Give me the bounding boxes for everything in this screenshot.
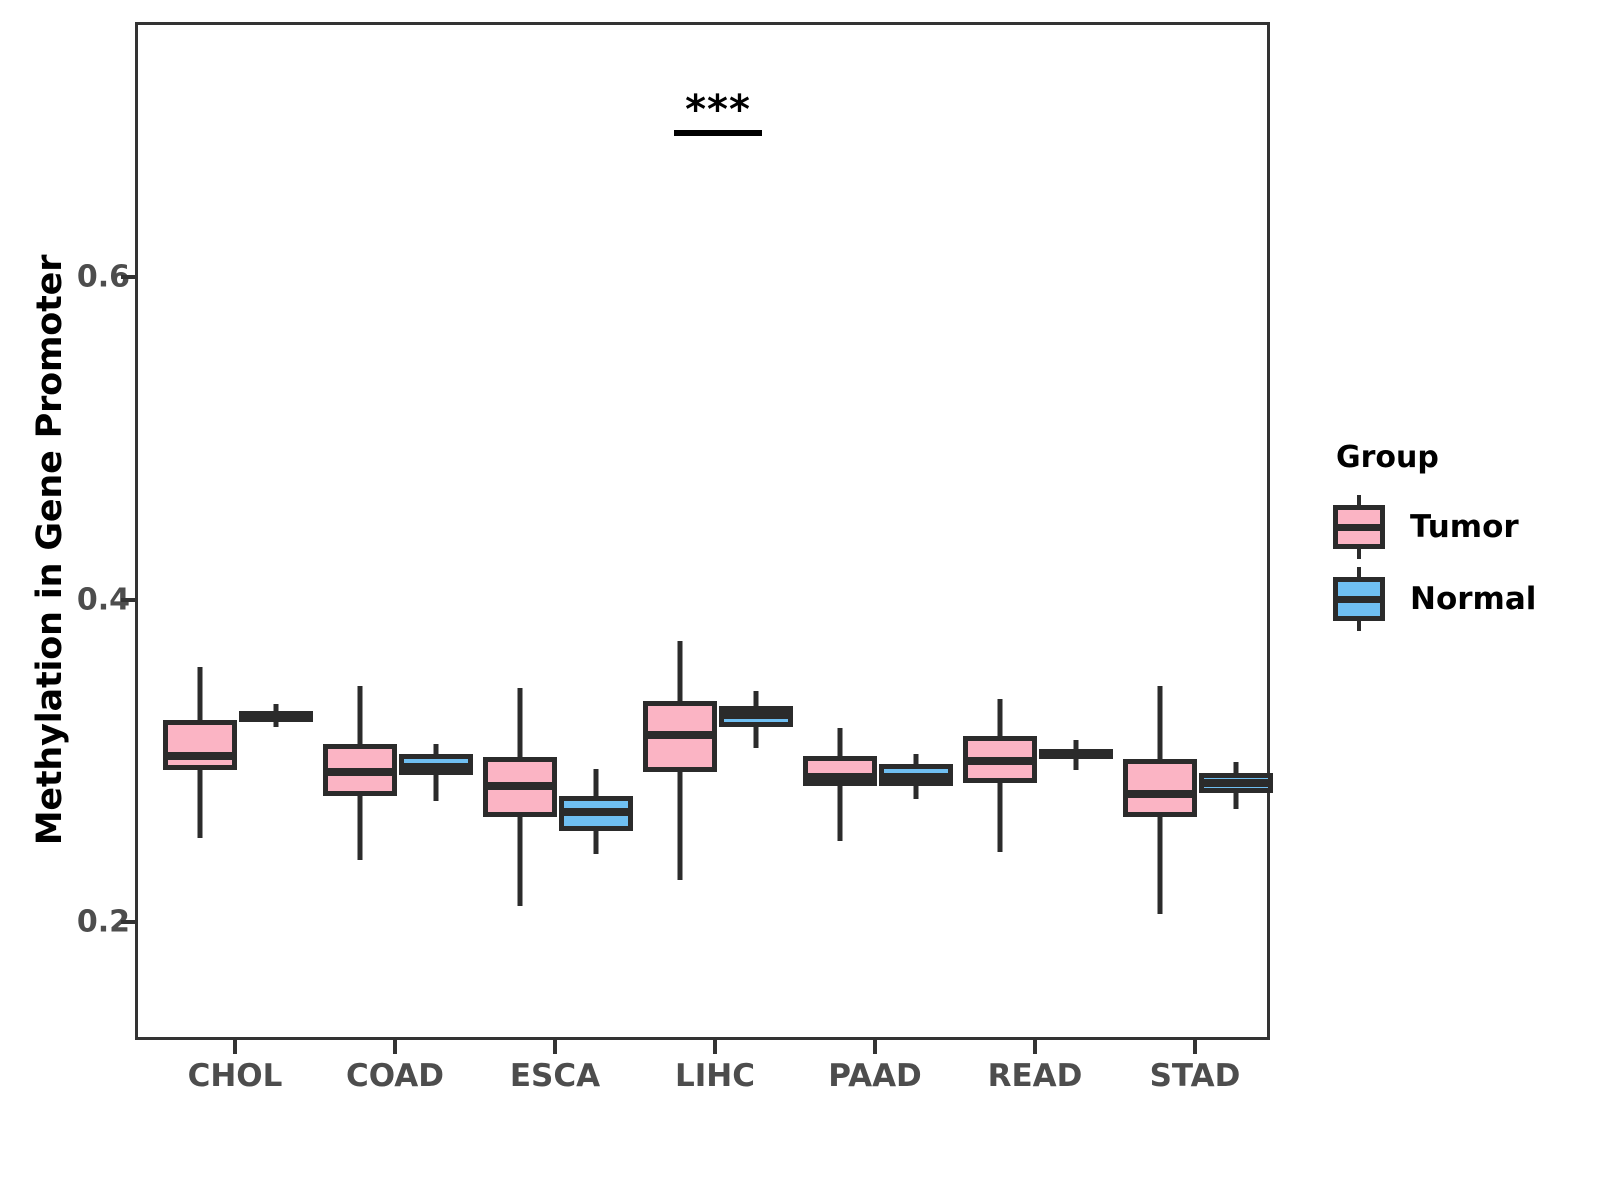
x-tick-mark <box>713 1040 717 1054</box>
median-line <box>1199 779 1273 787</box>
chart-root: Methylation in Gene Promoter 0.20.40.6 *… <box>0 0 1600 1200</box>
boxplot-normal-stad <box>138 25 1267 1037</box>
legend-median <box>1333 596 1385 603</box>
x-tick-mark <box>873 1040 877 1054</box>
legend-title: Group <box>1336 440 1590 475</box>
plot-panel: *** <box>135 22 1270 1040</box>
significance-stars: *** <box>685 90 751 130</box>
x-tick-mark <box>1193 1040 1197 1054</box>
x-tick-label-stad: STAD <box>1085 1058 1305 1094</box>
legend-item-normal[interactable]: Normal <box>1330 563 1590 635</box>
y-tick-mark <box>121 275 135 279</box>
legend-median <box>1333 524 1385 531</box>
legend: Group TumorNormal <box>1330 440 1590 635</box>
legend-key-tumor-icon <box>1330 491 1388 563</box>
y-tick-label: 0.6 <box>10 260 130 295</box>
y-tick-label: 0.2 <box>10 905 130 940</box>
x-tick-mark <box>1033 1040 1037 1054</box>
y-axis-title: Methylation in Gene Promoter <box>30 200 70 900</box>
legend-label-tumor: Tumor <box>1410 509 1519 545</box>
legend-entries: TumorNormal <box>1330 491 1590 635</box>
x-tick-mark <box>553 1040 557 1054</box>
x-tick-mark <box>233 1040 237 1054</box>
legend-label-normal: Normal <box>1410 581 1536 617</box>
legend-item-tumor[interactable]: Tumor <box>1330 491 1590 563</box>
legend-key-normal-icon <box>1330 563 1388 635</box>
x-tick-mark <box>393 1040 397 1054</box>
y-tick-label: 0.4 <box>10 582 130 617</box>
y-tick-mark <box>121 920 135 924</box>
y-tick-mark <box>121 598 135 602</box>
